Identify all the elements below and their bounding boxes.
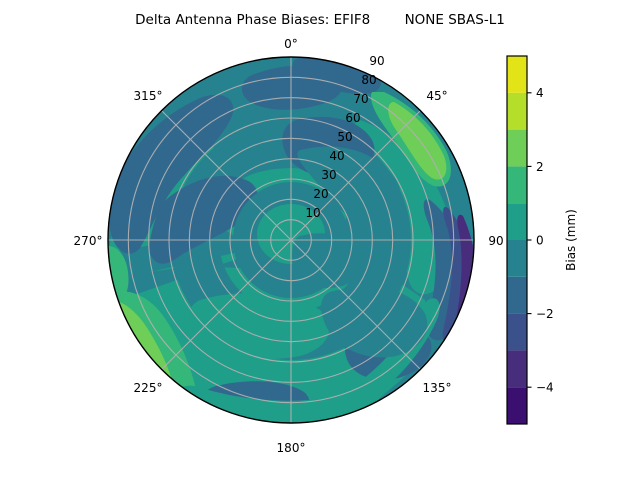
colorbar-ticks — [527, 93, 532, 387]
figure-canvas: Delta Antenna Phase Biases: EFIF8 NONE S… — [0, 0, 640, 480]
colorbar-tick-labels: 4 2 0 −2 −4 — [536, 86, 554, 394]
theta-label-225: 225° — [134, 381, 163, 395]
cbar-band-2 — [507, 314, 527, 351]
r-label-70: 70 — [353, 92, 368, 106]
r-label-60: 60 — [345, 111, 360, 125]
r-label-40: 40 — [329, 149, 344, 163]
cbar-label-2: 2 — [536, 160, 544, 174]
cbar-band-0 — [507, 387, 527, 424]
cbar-band-3 — [507, 277, 527, 314]
r-label-20: 20 — [313, 187, 328, 201]
theta-label-135: 135° — [423, 381, 452, 395]
theta-label-180: 180° — [277, 441, 306, 455]
colorbar-axis-label: Bias (mm) — [564, 209, 578, 271]
r-label-30: 30 — [321, 168, 336, 182]
theta-label-0: 0° — [284, 37, 298, 51]
theta-label-90: 90 — [488, 234, 503, 248]
polar-grid — [108, 57, 474, 423]
figure-title: Delta Antenna Phase Biases: EFIF8 NONE S… — [0, 12, 640, 28]
cbar-band-7 — [507, 130, 527, 167]
cbar-band-5 — [507, 203, 527, 240]
cbar-label-neg2: −2 — [536, 307, 554, 321]
cbar-label-4: 4 — [536, 86, 544, 100]
colorbar: 4 2 0 −2 −4 Bias (mm) — [507, 56, 578, 424]
cbar-label-0: 0 — [536, 233, 544, 247]
cbar-band-4 — [507, 240, 527, 277]
cbar-band-6 — [507, 166, 527, 203]
r-label-90: 90 — [369, 54, 384, 68]
theta-label-315: 315° — [134, 89, 163, 103]
r-label-10: 10 — [305, 206, 320, 220]
cbar-band-8 — [507, 93, 527, 130]
cbar-label-neg4: −4 — [536, 381, 554, 395]
theta-label-45: 45° — [426, 89, 447, 103]
r-label-80: 80 — [361, 73, 376, 87]
cbar-band-1 — [507, 350, 527, 387]
polar-contour-plot: 0° 45° 90 135° 180° 225° 270° 315° 10 20… — [0, 0, 640, 480]
r-label-50: 50 — [337, 130, 352, 144]
theta-label-270: 270° — [74, 234, 103, 248]
cbar-band-9 — [507, 56, 527, 93]
colorbar-bands — [507, 56, 527, 424]
